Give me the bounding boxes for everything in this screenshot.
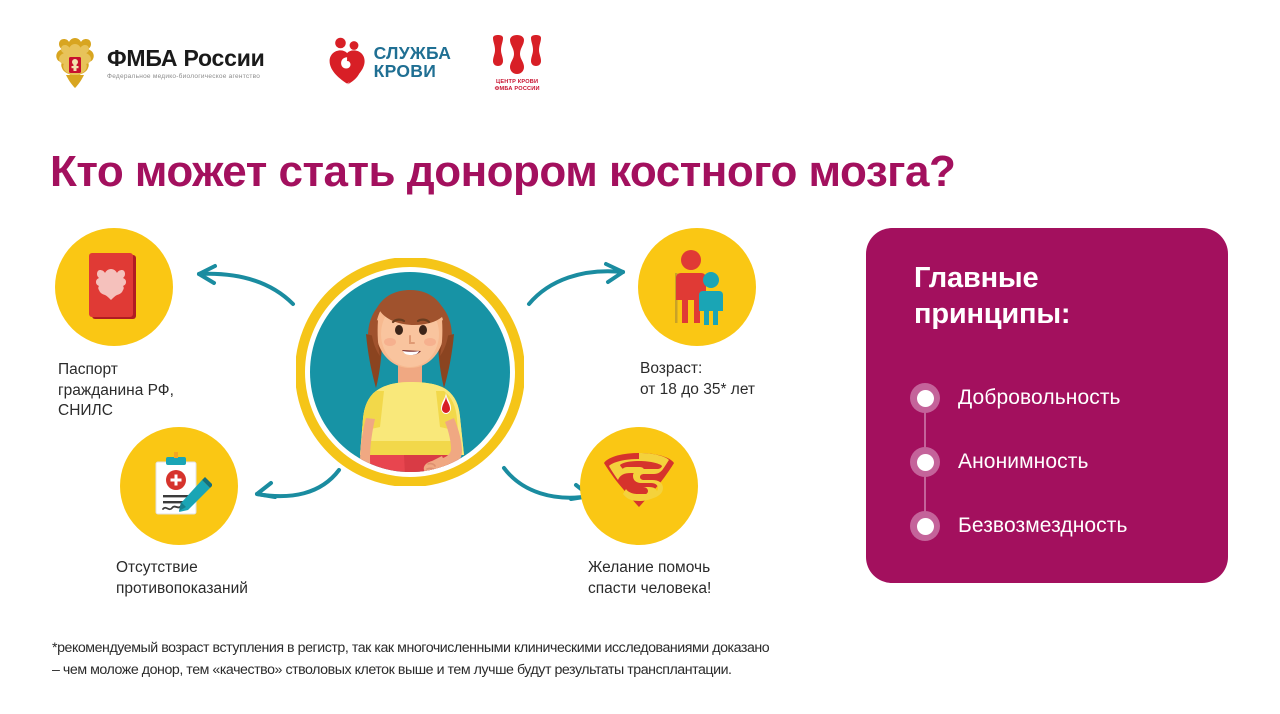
principle-item-voluntariness: Добровольность	[910, 366, 1210, 430]
fmba-title: ФМБА России	[107, 46, 265, 70]
blood-center-line2: ФМБА РОССИИ	[495, 86, 540, 93]
filled-dot-icon	[910, 447, 940, 477]
feature-contraindications-label: Отсутствие противопоказаний	[116, 558, 248, 599]
blood-center-line1: ЦЕНТР КРОВИ	[495, 79, 540, 86]
arrow-to-contraindications	[243, 460, 343, 513]
logo-bar: ФМБА России Федеральное медико-биологиче…	[52, 30, 545, 96]
heart-people-icon	[327, 37, 367, 89]
principle-label: Добровольность	[958, 386, 1121, 410]
arrow-to-passport	[185, 262, 297, 315]
feature-wish-bubble	[580, 427, 698, 545]
medical-form-clipboard-icon	[146, 450, 212, 522]
filled-dot-icon	[910, 511, 940, 541]
page-title: Кто может стать донором костного мозга?	[50, 147, 955, 197]
blood-center-text: ЦЕНТР КРОВИ ФМБА РОССИИ	[495, 79, 540, 93]
blood-service-line2: КРОВИ	[374, 63, 452, 81]
infographic-page: { "logos": { "fmba": { "title": "ФМБА Ро…	[0, 0, 1280, 714]
superhero-shield-icon	[600, 449, 678, 523]
principle-label: Безвозмездность	[958, 514, 1128, 538]
female-blood-donor-illustration	[296, 258, 524, 486]
feature-wish: Желание помочь спасти человека!	[580, 427, 711, 599]
arrow-to-age	[525, 258, 637, 315]
feature-contraindications: Отсутствие противопоказаний	[120, 427, 248, 599]
feature-contraindications-bubble	[120, 427, 238, 545]
curved-arrow-icon	[185, 262, 297, 310]
double-headed-eagle-crest-icon	[52, 35, 98, 91]
curved-arrow-icon	[525, 258, 637, 310]
feature-age-label: Возраст: от 18 до 35* лет	[640, 359, 756, 400]
feature-wish-label: Желание помочь спасти человека!	[588, 558, 711, 599]
fmba-subtitle: Федеральное медико-биологическое агентст…	[107, 73, 265, 80]
principle-label: Анонимность	[958, 450, 1088, 474]
logo-fmba: ФМБА России Федеральное медико-биологиче…	[52, 35, 265, 91]
logo-blood-center: ЦЕНТР КРОВИ ФМБА РОССИИ	[489, 33, 545, 93]
principles-list: Добровольность Анонимность Безвозмезднос…	[910, 366, 1210, 558]
principle-item-anonymity: Анонимность	[910, 430, 1210, 494]
adult-and-child-icon	[665, 249, 729, 325]
filled-dot-icon	[910, 383, 940, 413]
center-donor-illustration	[296, 258, 524, 486]
principles-panel: Главные принципы: Добровольность Анонимн…	[866, 228, 1228, 583]
curved-arrow-icon	[243, 460, 343, 508]
fmba-text-block: ФМБА России Федеральное медико-биологиче…	[107, 46, 265, 80]
feature-passport-bubble	[55, 228, 173, 346]
feature-passport-label: Паспорт гражданина РФ, СНИЛС	[58, 360, 174, 422]
footnote-text: *рекомендуемый возраст вступления в реги…	[52, 637, 769, 681]
blood-service-text: СЛУЖБА КРОВИ	[374, 45, 452, 81]
feature-age: Возраст: от 18 до 35* лет	[638, 228, 756, 400]
blood-drops-icon	[489, 33, 545, 77]
feature-age-bubble	[638, 228, 756, 346]
passport-rf-icon	[86, 251, 142, 323]
principles-panel-title: Главные принципы:	[914, 260, 1070, 333]
feature-passport: Паспорт гражданина РФ, СНИЛС	[55, 228, 174, 422]
logo-blood-service: СЛУЖБА КРОВИ	[327, 37, 452, 89]
principle-item-gratuitousness: Безвозмездность	[910, 494, 1210, 558]
